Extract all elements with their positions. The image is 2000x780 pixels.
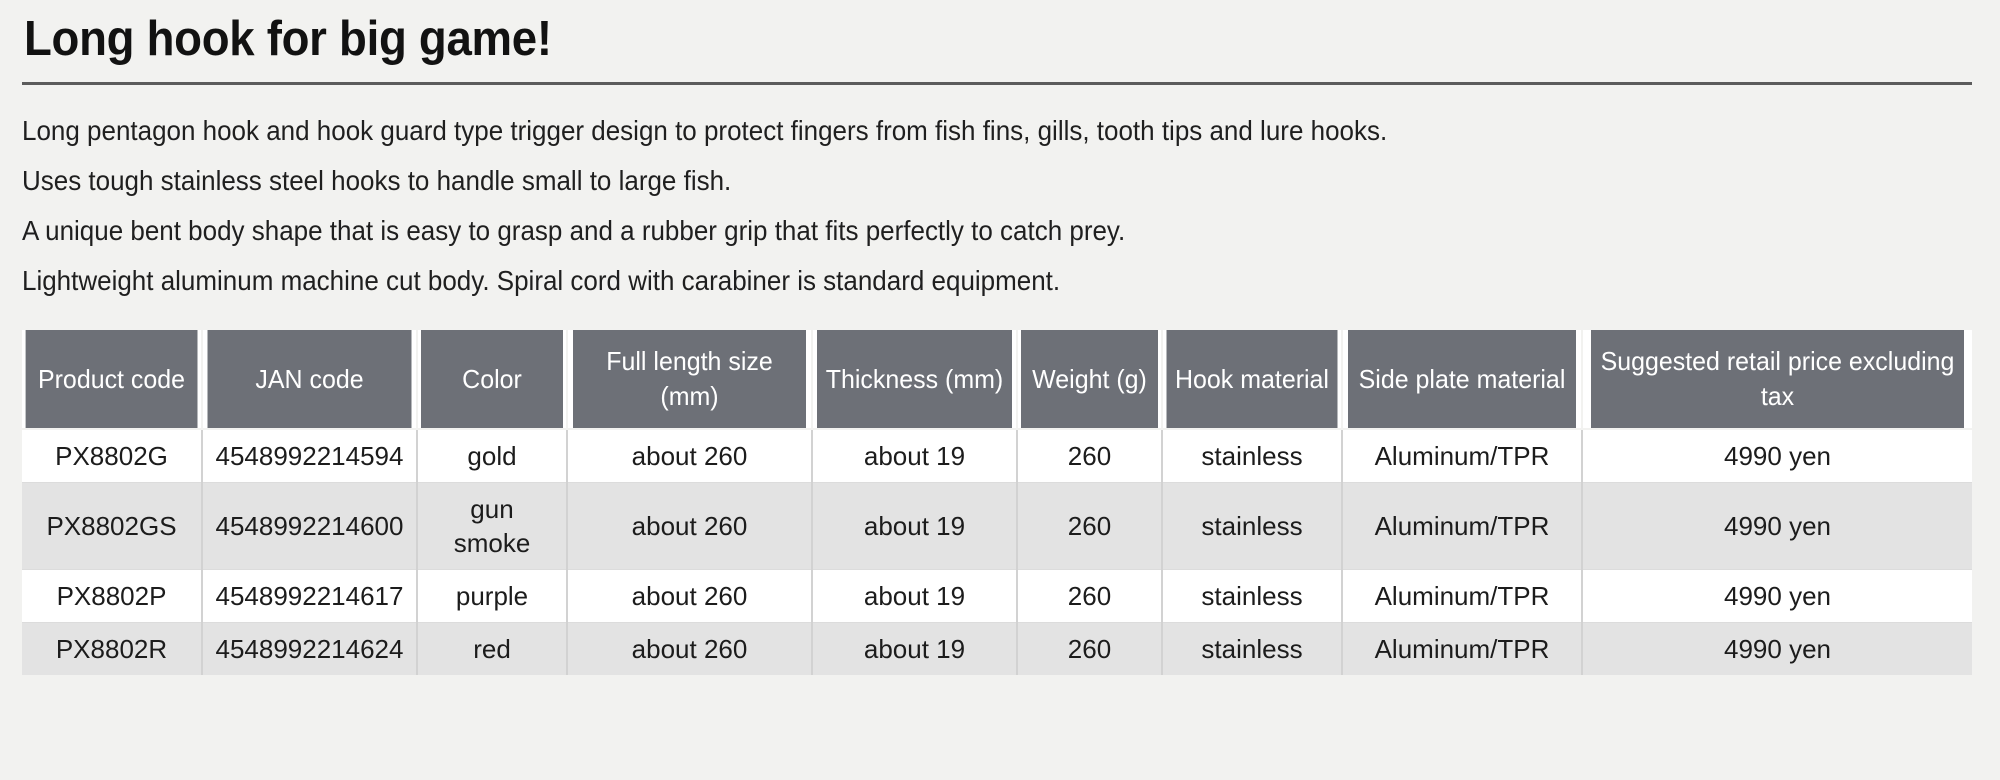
specification-table: Product code JAN code Color Full length … [22, 330, 1972, 675]
column-header-price: Suggested retail price excluding tax [1590, 330, 1964, 429]
cell-color: gold [417, 429, 567, 483]
description-line-4: Lightweight aluminum machine cut body. S… [22, 256, 1870, 306]
cell-side-plate-material: Aluminum/TPR [1342, 429, 1582, 483]
product-spec-page: Long hook for big game! Long pentagon ho… [0, 0, 2000, 780]
column-header-hook-material: Hook material [1166, 330, 1339, 429]
cell-hook-material: stainless [1162, 429, 1342, 483]
cell-color: red [417, 623, 567, 676]
cell-weight: 260 [1017, 623, 1162, 676]
column-header-weight: Weight (g) [1020, 330, 1159, 429]
table-header-row: Product code JAN code Color Full length … [22, 330, 1972, 429]
cell-price: 4990 yen [1582, 483, 1972, 570]
cell-side-plate-material: Aluminum/TPR [1342, 570, 1582, 623]
title-divider [22, 82, 1972, 85]
column-header-thickness: Thickness (mm) [816, 330, 1013, 429]
cell-jan-code: 4548992214594 [202, 429, 417, 483]
column-header-color: Color [420, 330, 564, 429]
product-description: Long pentagon hook and hook guard type t… [22, 106, 1870, 306]
cell-price: 4990 yen [1582, 623, 1972, 676]
cell-price: 4990 yen [1582, 429, 1972, 483]
cell-hook-material: stainless [1162, 623, 1342, 676]
column-header-product-code: Product code [26, 330, 199, 429]
cell-full-length-size: about 260 [567, 483, 812, 570]
cell-side-plate-material: Aluminum/TPR [1342, 483, 1582, 570]
table-row: PX8802R 4548992214624 red about 260 abou… [22, 623, 1972, 676]
cell-hook-material: stainless [1162, 483, 1342, 570]
cell-color: gun smoke [417, 483, 567, 570]
description-line-2: Uses tough stainless steel hooks to hand… [22, 156, 1870, 206]
cell-weight: 260 [1017, 483, 1162, 570]
column-header-full-length-size: Full length size (mm) [572, 330, 807, 429]
cell-product-code: PX8802R [22, 623, 202, 676]
cell-full-length-size: about 260 [567, 429, 812, 483]
table-body: PX8802G 4548992214594 gold about 260 abo… [22, 429, 1972, 675]
cell-weight: 260 [1017, 429, 1162, 483]
cell-thickness: about 19 [812, 570, 1017, 623]
description-line-1: Long pentagon hook and hook guard type t… [22, 106, 1870, 156]
cell-thickness: about 19 [812, 623, 1017, 676]
cell-product-code: PX8802GS [22, 483, 202, 570]
description-line-3: A unique bent body shape that is easy to… [22, 206, 1870, 256]
cell-price: 4990 yen [1582, 570, 1972, 623]
cell-side-plate-material: Aluminum/TPR [1342, 623, 1582, 676]
cell-product-code: PX8802G [22, 429, 202, 483]
cell-jan-code: 4548992214624 [202, 623, 417, 676]
table-header: Product code JAN code Color Full length … [22, 330, 1972, 429]
cell-jan-code: 4548992214600 [202, 483, 417, 570]
column-header-jan-code: JAN code [206, 330, 412, 429]
cell-hook-material: stainless [1162, 570, 1342, 623]
cell-product-code: PX8802P [22, 570, 202, 623]
table-row: PX8802G 4548992214594 gold about 260 abo… [22, 429, 1972, 483]
table-row: PX8802GS 4548992214600 gun smoke about 2… [22, 483, 1972, 570]
table-row: PX8802P 4548992214617 purple about 260 a… [22, 570, 1972, 623]
cell-jan-code: 4548992214617 [202, 570, 417, 623]
page-title: Long hook for big game! [24, 0, 1841, 65]
cell-color: purple [417, 570, 567, 623]
cell-full-length-size: about 260 [567, 623, 812, 676]
column-header-side-plate-material: Side plate material [1347, 330, 1577, 429]
cell-thickness: about 19 [812, 483, 1017, 570]
cell-weight: 260 [1017, 570, 1162, 623]
cell-thickness: about 19 [812, 429, 1017, 483]
cell-full-length-size: about 260 [567, 570, 812, 623]
